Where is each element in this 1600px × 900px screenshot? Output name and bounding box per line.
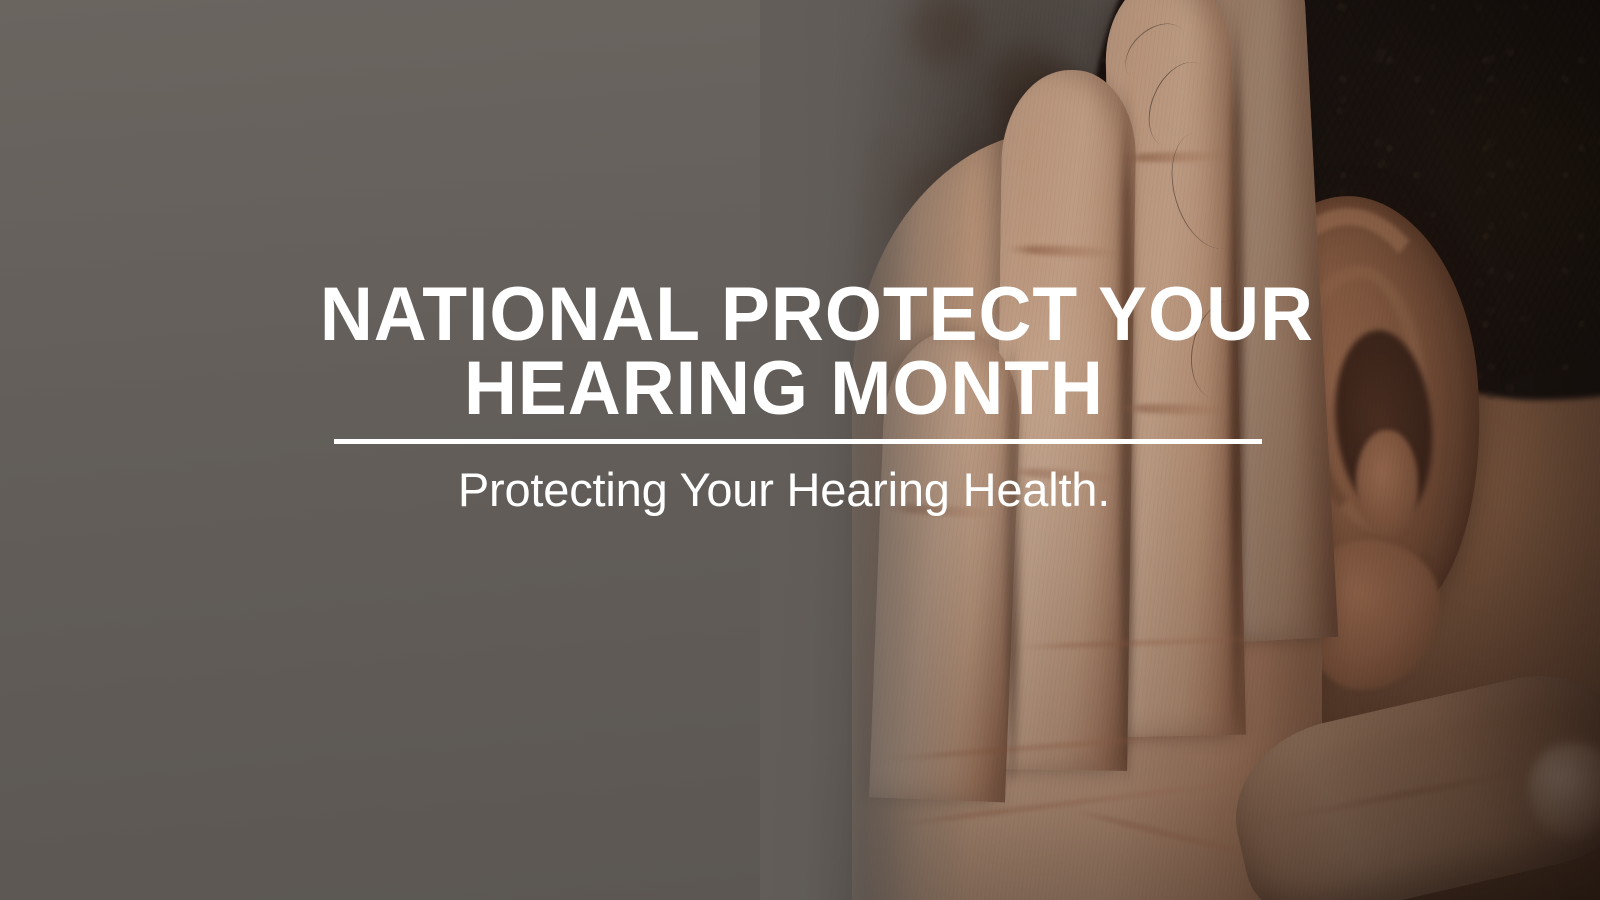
divider xyxy=(334,439,1262,444)
banner-content: NATIONAL PROTECT YOURHEARING MONTH Prote… xyxy=(0,0,1566,900)
page-title: NATIONAL PROTECT YOURHEARING MONTH xyxy=(320,278,1248,426)
subtitle: Protecting Your Hearing Health. xyxy=(303,464,1265,516)
hearing-month-banner: NATIONAL PROTECT YOURHEARING MONTH Prote… xyxy=(0,0,1600,900)
headline-line-2: HEARING MONTH xyxy=(320,352,1248,426)
headline-line-1: NATIONAL PROTECT YOUR xyxy=(320,272,1314,357)
headline-block: NATIONAL PROTECT YOURHEARING MONTH xyxy=(303,278,1265,426)
